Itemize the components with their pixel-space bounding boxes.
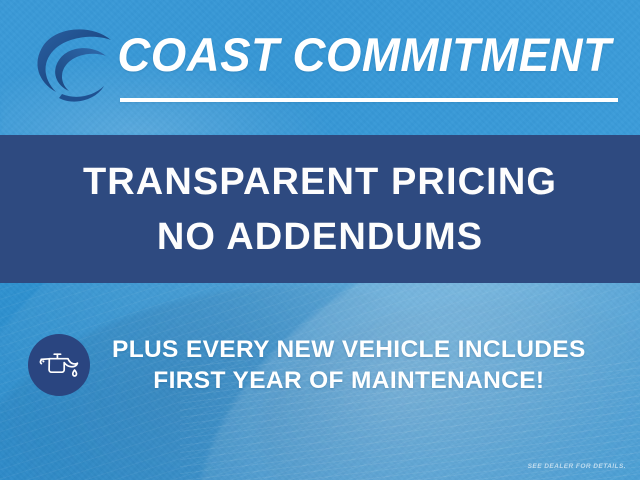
oil-can-icon [38,350,80,380]
promo-line-1: PLUS EVERY NEW VEHICLE INCLUDES [112,334,586,365]
wave-swirl-logo-icon [26,22,122,106]
headline-band: TRANSPARENT PRICING NO ADDENDUMS [0,135,640,283]
headline-line-1: TRANSPARENT PRICING [83,163,557,201]
oil-can-icon-badge [28,334,90,396]
promo-text-block: PLUS EVERY NEW VEHICLE INCLUDES FIRST YE… [112,334,586,397]
brand-title: COAST COMMITMENT [118,20,611,88]
banner-header: COAST COMMITMENT [0,0,640,136]
headline-line-2: NO ADDENDUMS [157,218,483,256]
promo-row: PLUS EVERY NEW VEHICLE INCLUDES FIRST YE… [0,322,640,408]
promo-line-2: FIRST YEAR OF MAINTENANCE! [112,365,586,396]
coast-commitment-banner: COAST COMMITMENT TRANSPARENT PRICING NO … [0,0,640,480]
header-divider-rule [120,98,618,102]
disclaimer-text: SEE DEALER FOR DETAILS. [528,463,626,470]
